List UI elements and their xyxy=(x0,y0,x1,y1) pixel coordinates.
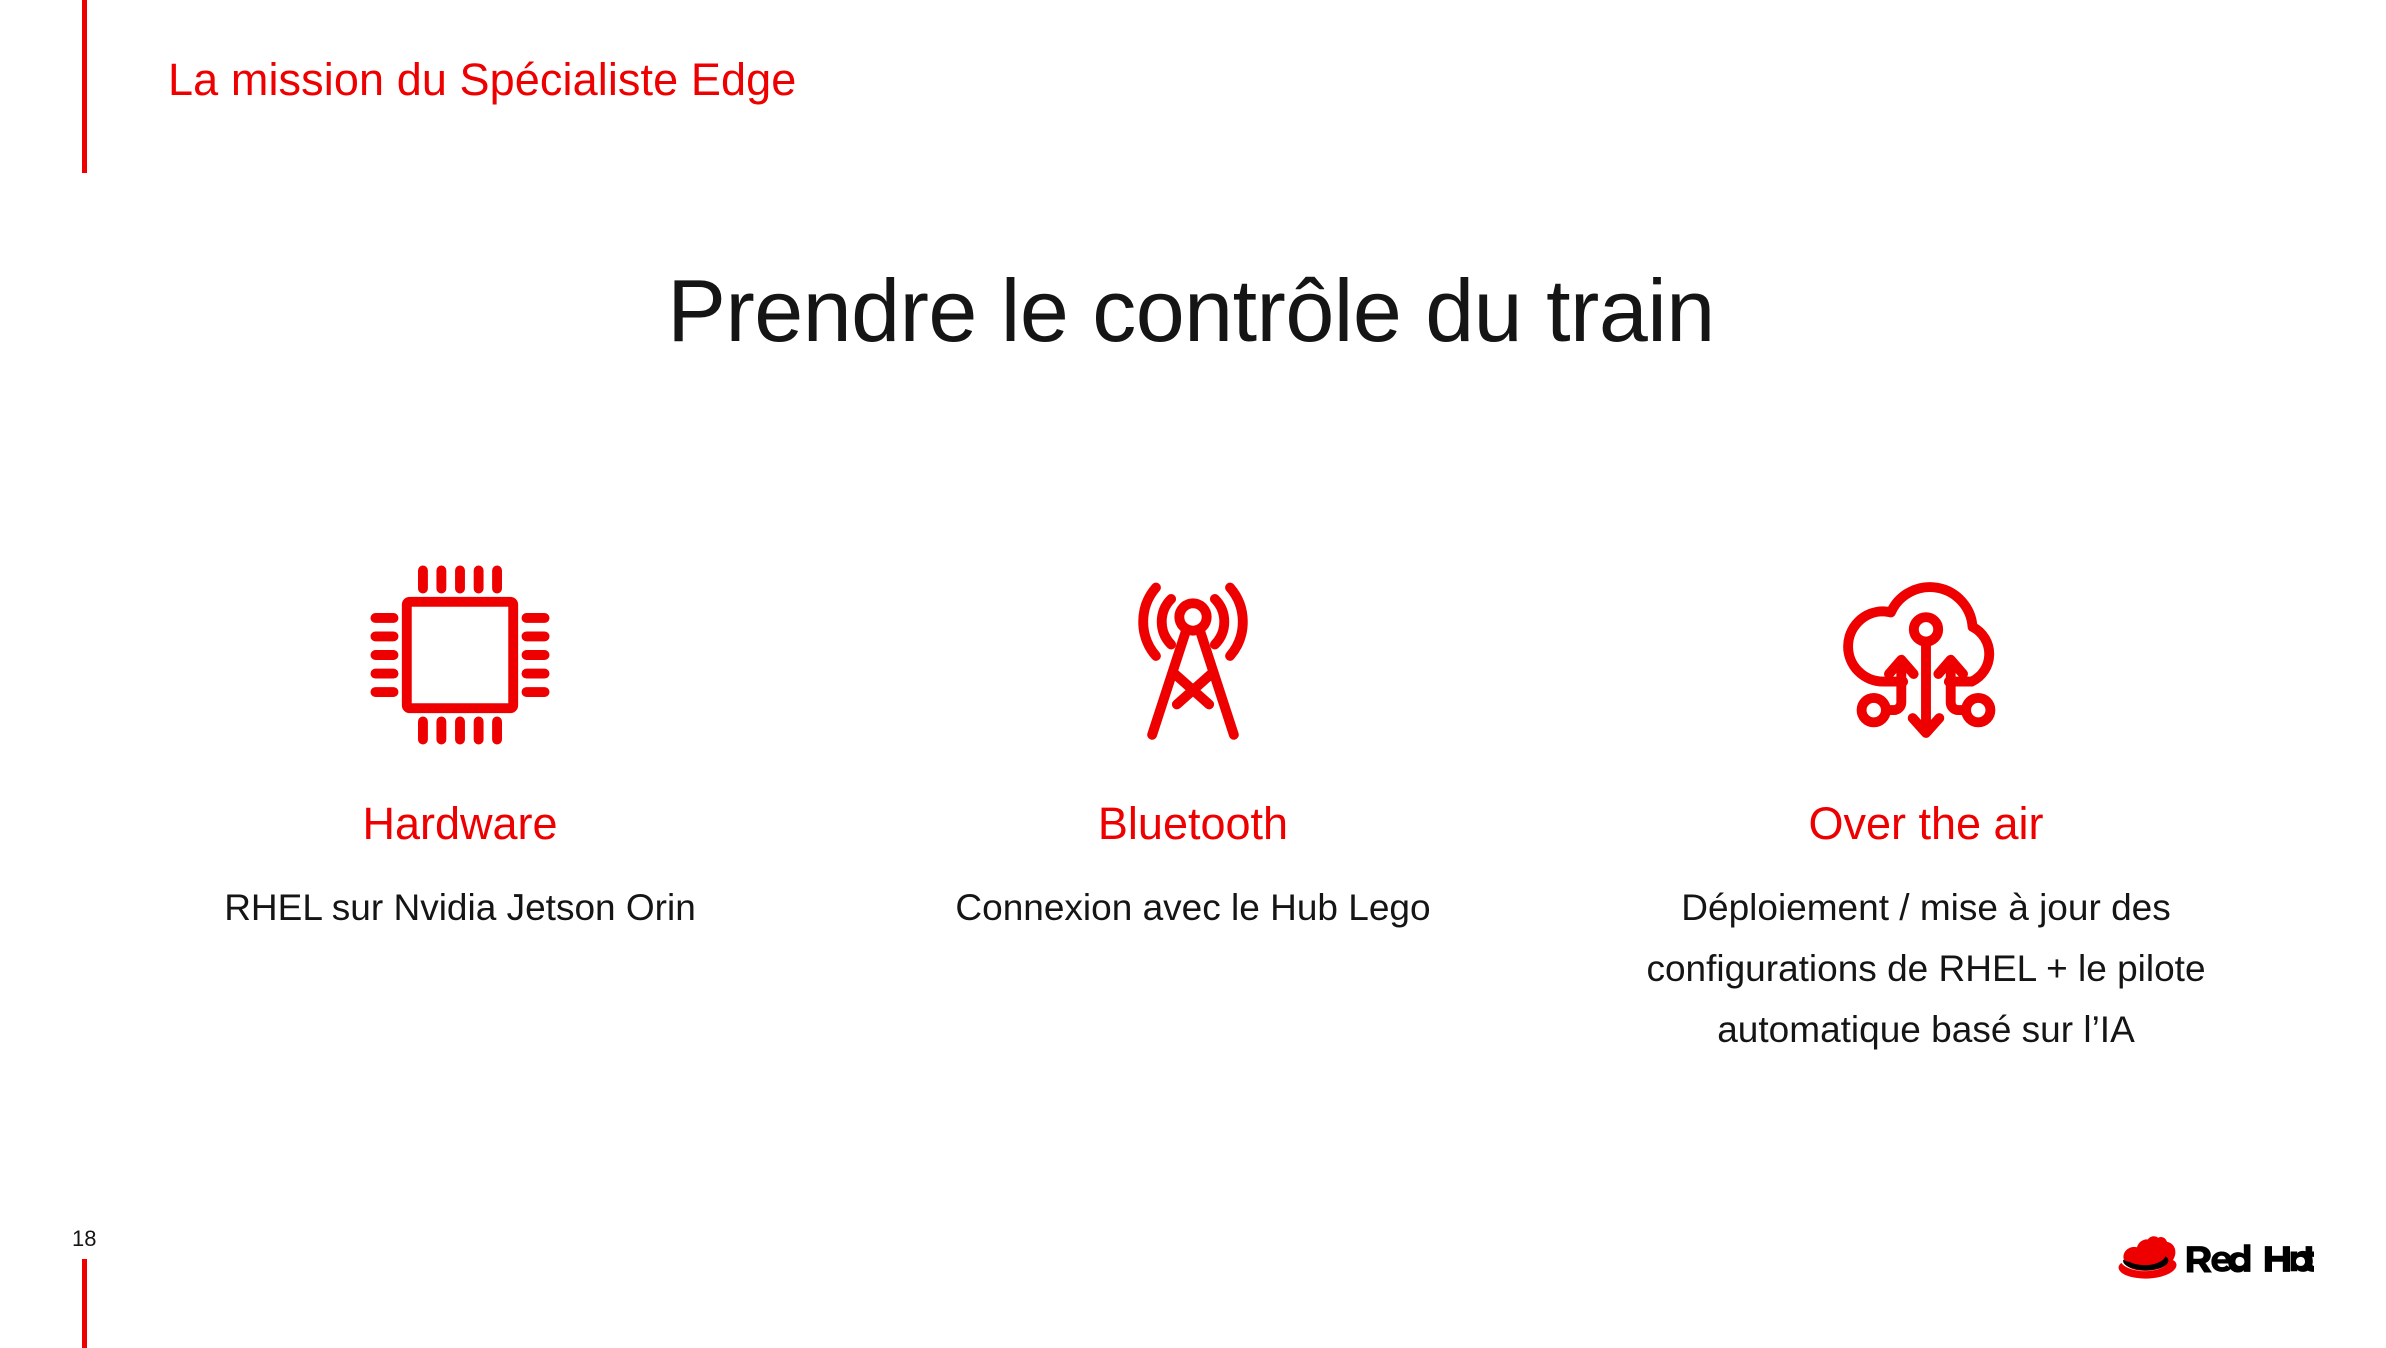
radio-tower-icon xyxy=(1098,560,1288,750)
accent-rule-top xyxy=(82,0,87,173)
slide-canvas: La mission du Spécialiste Edge Prendre l… xyxy=(0,0,2386,1348)
page-number: 18 xyxy=(72,1228,96,1250)
slide-kicker: La mission du Spécialiste Edge xyxy=(168,53,796,107)
feature-title: Over the air xyxy=(1808,797,2043,851)
chip-icon xyxy=(365,560,555,750)
feature-columns: Hardware RHEL sur Nvidia Jetson Orin xyxy=(140,560,2246,1060)
feature-column-bluetooth: Bluetooth Connexion avec le Hub Lego xyxy=(873,560,1513,938)
feature-column-hardware: Hardware RHEL sur Nvidia Jetson Orin xyxy=(140,560,780,938)
feature-title: Hardware xyxy=(362,797,557,851)
cloud-sync-icon xyxy=(1831,560,2021,750)
page-title: Prendre le contrôle du train xyxy=(0,262,2386,361)
feature-description: Déploiement / mise à jour des configurat… xyxy=(1626,877,2226,1060)
feature-description: RHEL sur Nvidia Jetson Orin xyxy=(224,877,696,938)
feature-column-over-the-air: Over the air Déploiement / mise à jour d… xyxy=(1606,560,2246,1060)
red-hat-logo xyxy=(2116,1228,2314,1290)
accent-rule-bottom xyxy=(82,1259,87,1348)
feature-title: Bluetooth xyxy=(1098,797,1288,851)
page-title-text: Prendre le contrôle du train xyxy=(667,262,1715,361)
feature-description: Connexion avec le Hub Lego xyxy=(955,877,1430,938)
